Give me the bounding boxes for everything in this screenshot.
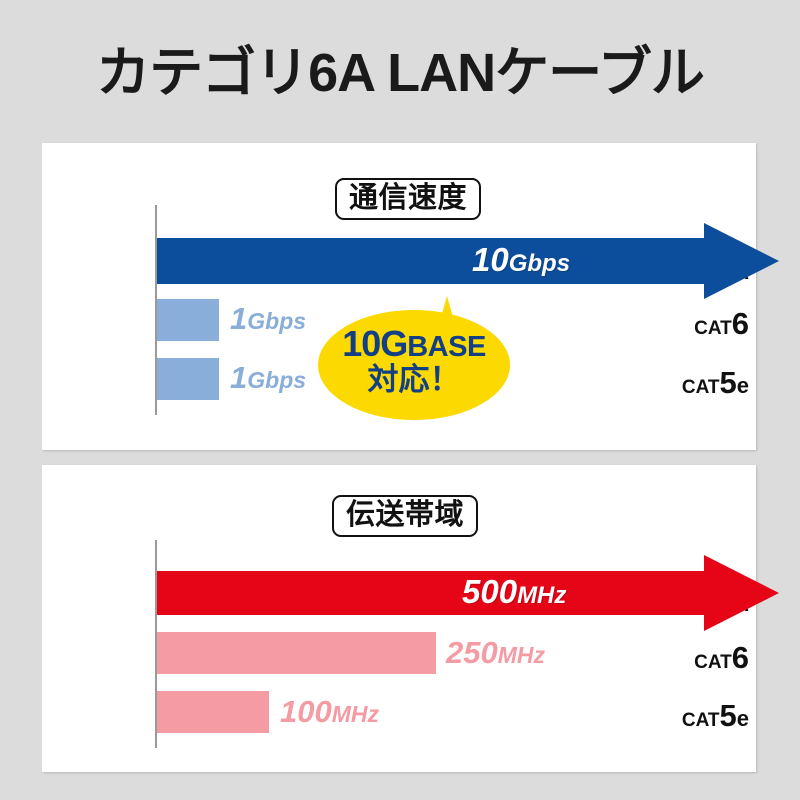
row-label-cat5e: CAT5e <box>643 365 756 401</box>
row-label-cat6: CAT6 <box>643 640 756 676</box>
speed-value-cat5e: 1Gbps <box>230 360 306 396</box>
bandwidth-chart: CAT6A 500MHz CAT6 250MHz CAT5e 100MHz <box>42 465 756 772</box>
bandwidth-value-cat6a: 500MHz <box>462 573 566 611</box>
speed-chart: CAT6A 10Gbps CAT6 1Gbps CAT5e 1Gbps <box>42 143 756 450</box>
speed-bar-cat5e <box>157 358 219 400</box>
callout-bubble-10gbase: 10GBASE 対応！ <box>318 296 510 420</box>
page-title: カテゴリ6A LANケーブル <box>0 42 800 104</box>
row-label-cat6: CAT6 <box>643 306 756 342</box>
row-label-cat5e: CAT5e <box>643 698 756 734</box>
speed-chart-card: 通信速度 CAT6A 10Gbps CAT6 1Gbps CAT5e <box>42 143 756 450</box>
bandwidth-bar-cat6a-arrow: 500MHz <box>157 555 779 631</box>
speed-value-cat6: 1Gbps <box>230 301 306 337</box>
bandwidth-value-cat6: 250MHz <box>446 635 545 671</box>
speed-value-cat6a: 10Gbps <box>472 241 570 279</box>
bandwidth-value-cat5e: 100MHz <box>280 694 379 730</box>
bandwidth-bar-cat6 <box>157 632 436 674</box>
speed-bar-cat6 <box>157 299 219 341</box>
bandwidth-bar-cat5e <box>157 691 269 733</box>
bubble-text: 10GBASE 対応！ <box>318 326 510 395</box>
speed-bar-cat6a-arrow: 10Gbps <box>157 223 779 299</box>
bandwidth-chart-card: 伝送帯域 CAT6A 500MHz CAT6 250MHz CAT5e <box>42 465 756 772</box>
